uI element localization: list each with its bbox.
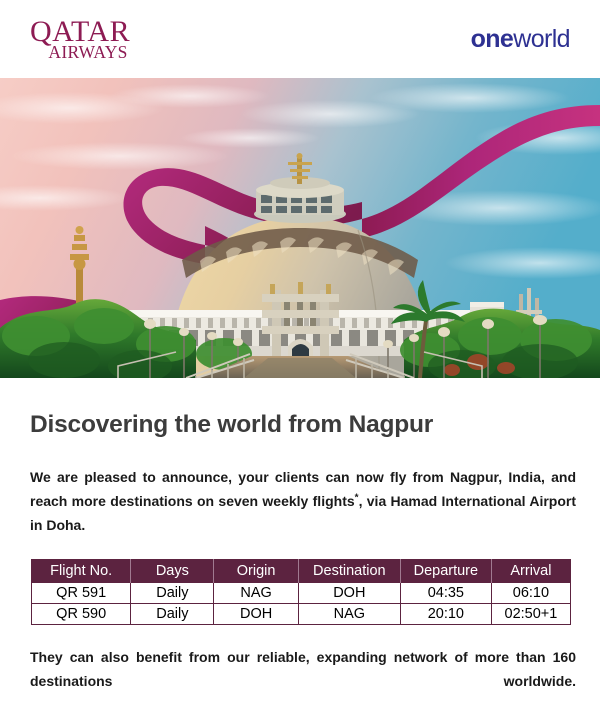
cell-arrival: 06:10 (491, 583, 570, 604)
column-header-days: Days (131, 560, 214, 583)
oneworld-logo-world: world (513, 25, 570, 53)
column-header-departure: Departure (400, 560, 491, 583)
column-header-arrival: Arrival (491, 560, 570, 583)
qatar-airways-logo-line2: AIRWAYS (48, 44, 127, 62)
oneworld-logo[interactable]: oneworld (471, 25, 570, 54)
cell-departure: 04:35 (400, 583, 491, 604)
outro-paragraph: They can also benefit from our reliable,… (30, 645, 576, 717)
main-content: Discovering the world from Nagpur We are… (0, 411, 600, 717)
hero-illustration (0, 78, 600, 378)
oneworld-logo-one: one (471, 25, 514, 53)
cell-days: Daily (131, 604, 214, 625)
cell-origin: NAG (214, 583, 298, 604)
column-header-destination: Destination (298, 560, 400, 583)
table-row: QR 590 Daily DOH NAG 20:10 02:50+1 (32, 604, 571, 625)
cell-flight-no: QR 590 (32, 604, 131, 625)
hero-image (0, 78, 600, 378)
cell-days: Daily (131, 583, 214, 604)
page-title: Discovering the world from Nagpur (30, 411, 570, 439)
intro-paragraph: We are pleased to announce, your clients… (30, 465, 576, 537)
column-header-flight-no: Flight No. (32, 560, 131, 583)
cell-destination: DOH (298, 583, 400, 604)
cell-flight-no: QR 591 (32, 583, 131, 604)
cell-arrival: 02:50+1 (491, 604, 570, 625)
flight-schedule-table: Flight No. Days Origin Destination Depar… (31, 559, 571, 625)
cell-origin: DOH (214, 604, 298, 625)
qatar-airways-logo[interactable]: QATAR AIRWAYS (30, 17, 130, 62)
column-header-origin: Origin (214, 560, 298, 583)
table-row: QR 591 Daily NAG DOH 04:35 06:10 (32, 583, 571, 604)
cell-departure: 20:10 (400, 604, 491, 625)
page-header: QATAR AIRWAYS oneworld (0, 0, 600, 78)
cell-destination: NAG (298, 604, 400, 625)
table-header-row: Flight No. Days Origin Destination Depar… (32, 560, 571, 583)
